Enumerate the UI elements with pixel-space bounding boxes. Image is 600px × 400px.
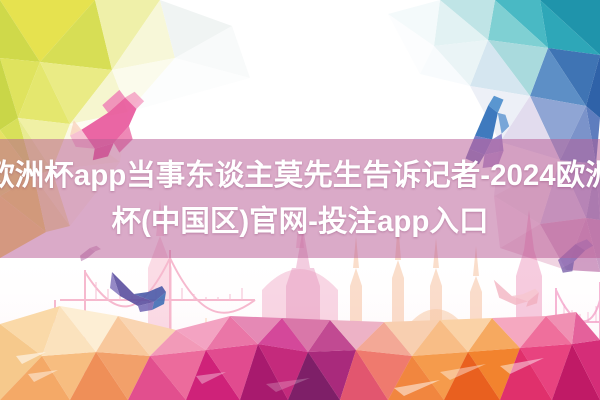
banner-image: 欧洲杯app当事东谈主莫先生告诉记者-2024欧洲 杯(中国区)官网-投注app… <box>0 0 600 400</box>
bottom-polygons <box>0 306 600 400</box>
headline-line-1: 欧洲杯app当事东谈主莫先生告诉记者-2024欧洲 <box>0 153 600 199</box>
headline-line-2: 杯(中国区)官网-投注app入口 <box>112 199 489 245</box>
headline-band: 欧洲杯app当事东谈主莫先生告诉记者-2024欧洲 杯(中国区)官网-投注app… <box>0 139 600 258</box>
